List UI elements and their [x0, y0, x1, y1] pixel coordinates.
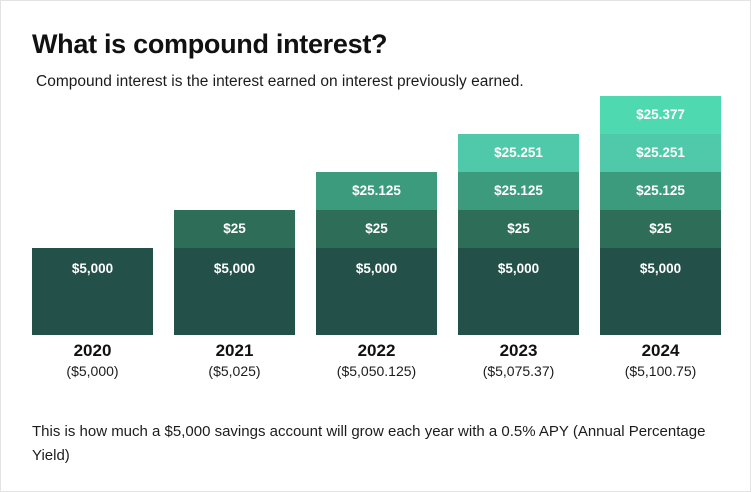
- axis-total-label: ($5,050.125): [316, 361, 437, 381]
- bar-segment: $25: [316, 210, 437, 248]
- bar-segment: $5,000: [600, 248, 721, 335]
- axis-year-label: 2024: [600, 341, 721, 361]
- axis-year-label: 2021: [174, 341, 295, 361]
- bar-2020: $5,000: [32, 248, 153, 335]
- bar-segment: $5,000: [316, 248, 437, 335]
- bar-segment: $25: [458, 210, 579, 248]
- chart-x-axis-labels: 2020($5,000)2021($5,025)2022($5,050.125)…: [32, 341, 722, 389]
- axis-total-label: ($5,025): [174, 361, 295, 381]
- axis-total-label: ($5,000): [32, 361, 153, 381]
- bar-segment-label: $5,000: [356, 262, 397, 276]
- axis-year-label: 2020: [32, 341, 153, 361]
- axis-label-2022: 2022($5,050.125): [316, 341, 437, 382]
- bar-segment: $25.251: [600, 134, 721, 172]
- bar-segment-label: $25: [365, 222, 388, 236]
- bar-2023: $25.251$25.125$25$5,000: [458, 134, 579, 335]
- infographic-card: What is compound interest? Compound inte…: [0, 0, 751, 492]
- bar-2024: $25.377$25.251$25.125$25$5,000: [600, 96, 721, 335]
- axis-total-label: ($5,100.75): [600, 361, 721, 381]
- bar-segment-label: $25.125: [636, 184, 685, 198]
- bar-segment-label: $25.251: [636, 146, 685, 160]
- bar-segment: $5,000: [32, 248, 153, 335]
- axis-year-label: 2023: [458, 341, 579, 361]
- bar-segment-label: $25.251: [494, 146, 543, 160]
- bar-segment-label: $25.377: [636, 108, 685, 122]
- axis-label-2020: 2020($5,000): [32, 341, 153, 382]
- bar-segment-label: $5,000: [640, 262, 681, 276]
- axis-label-2024: 2024($5,100.75): [600, 341, 721, 382]
- bar-segment: $5,000: [458, 248, 579, 335]
- axis-label-2021: 2021($5,025): [174, 341, 295, 382]
- page-title: What is compound interest?: [32, 29, 387, 60]
- stacked-bar-chart: $5,000$25$5,000$25.125$25$5,000$25.251$2…: [32, 113, 722, 335]
- bar-segment-label: $25.125: [494, 184, 543, 198]
- chart-footnote: This is how much a $5,000 savings accoun…: [32, 420, 712, 469]
- bar-segment: $25.125: [600, 172, 721, 210]
- bar-segment: $25.125: [458, 172, 579, 210]
- bar-segment-label: $25: [649, 222, 672, 236]
- axis-label-2023: 2023($5,075.37): [458, 341, 579, 382]
- bar-2021: $25$5,000: [174, 210, 295, 335]
- bar-segment: $25: [174, 210, 295, 248]
- bar-segment: $25: [600, 210, 721, 248]
- bar-segment-label: $5,000: [72, 262, 113, 276]
- bar-segment: $25.125: [316, 172, 437, 210]
- bar-segment-label: $25: [507, 222, 530, 236]
- bar-segment-label: $5,000: [214, 262, 255, 276]
- bar-segment-label: $5,000: [498, 262, 539, 276]
- bar-segment: $25.377: [600, 96, 721, 134]
- bar-segment: $25.251: [458, 134, 579, 172]
- bar-segment-label: $25.125: [352, 184, 401, 198]
- bar-segment-label: $25: [223, 222, 246, 236]
- page-subtitle: Compound interest is the interest earned…: [36, 73, 524, 91]
- bar-2022: $25.125$25$5,000: [316, 172, 437, 335]
- axis-total-label: ($5,075.37): [458, 361, 579, 381]
- axis-year-label: 2022: [316, 341, 437, 361]
- bar-segment: $5,000: [174, 248, 295, 335]
